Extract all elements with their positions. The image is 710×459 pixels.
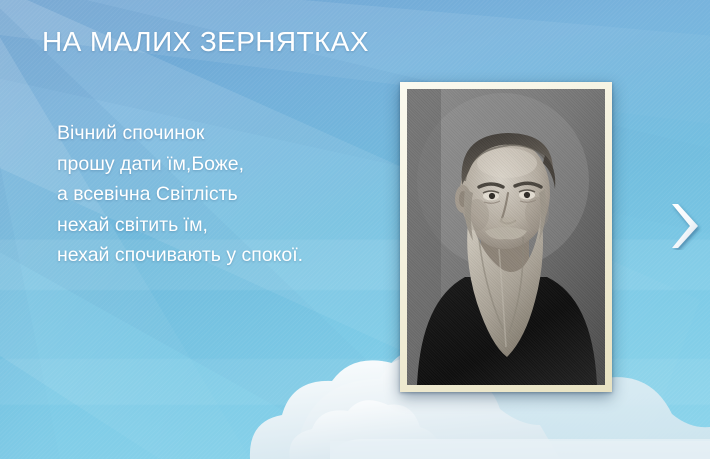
presentation-slide: НА МАЛИХ ЗЕРНЯТКАХ Вічний спочинок прошу… [0, 0, 710, 459]
poem-line: а всевічна Світлість [57, 179, 303, 210]
portrait-photo [407, 89, 605, 385]
slide-title: НА МАЛИХ ЗЕРНЯТКАХ [42, 26, 369, 58]
poem-line: нехай світить їм, [57, 210, 303, 241]
poem-line: Вічний спочинок [57, 118, 303, 149]
poem-line: прошу дати їм,Боже, [57, 149, 303, 180]
poem-line: нехай спочивають у спокої. [57, 240, 303, 271]
portrait-frame [400, 82, 612, 392]
chevron-right-icon[interactable] [668, 202, 702, 250]
poem-text-block: Вічний спочинок прошу дати їм,Боже, а вс… [57, 118, 303, 271]
